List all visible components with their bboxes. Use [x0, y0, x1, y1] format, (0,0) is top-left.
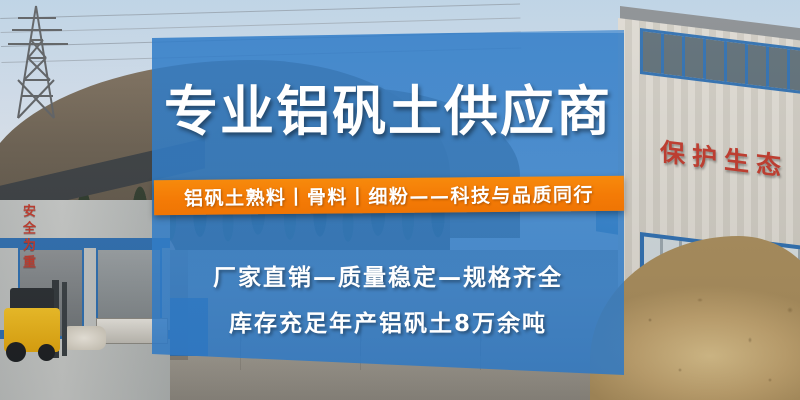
banner-content: 专业铝矾土供应商 铝矾土熟料丨骨料丨细粉——科技与品质同行 厂家直销—质量稳定—…	[150, 30, 626, 380]
tagline-bar: 铝矾土熟料丨骨料丨细粉——科技与品质同行	[154, 176, 624, 216]
page-title: 专业铝矾土供应商	[150, 82, 626, 141]
subline-1: 厂家直销—质量稳定—规格齐全	[150, 258, 626, 292]
subline-2: 库存充足年产铝矾土8万余吨	[150, 304, 626, 338]
tagline-text: 铝矾土熟料丨骨料丨细粉——科技与品质同行	[184, 180, 594, 211]
promo-banner: 安全为重 保护生态 专业铝矾土供应商 铝矾土熟料丨骨料丨细粉——科技与品质同行 …	[0, 0, 800, 400]
